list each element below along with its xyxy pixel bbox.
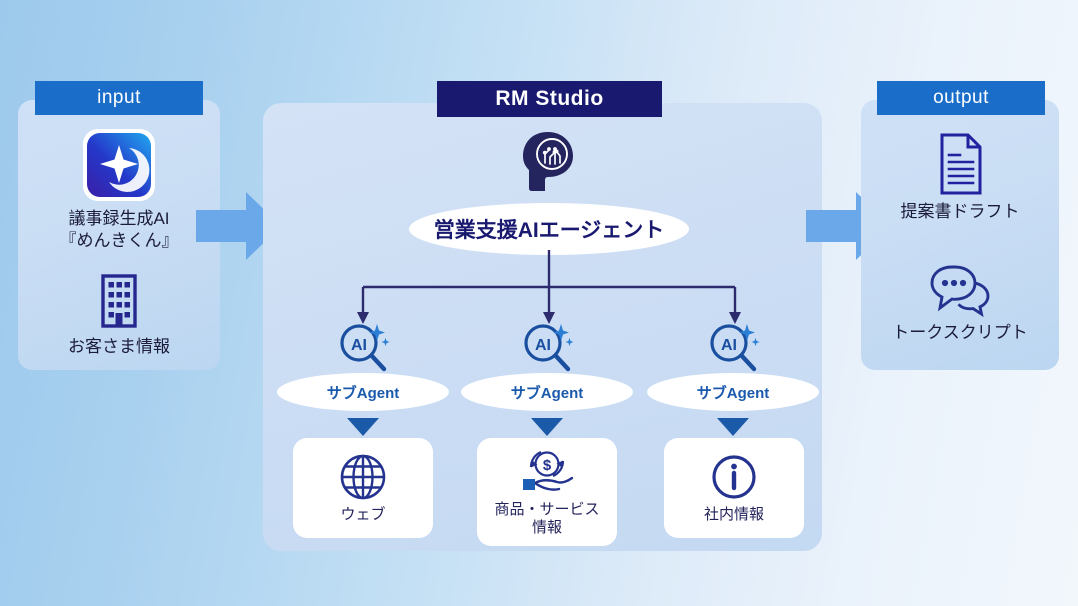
svg-text:AI: AI [351, 337, 367, 354]
rm-studio-header-label: RM Studio [495, 87, 603, 111]
branch-3-agent-label: サブAgent [697, 382, 770, 403]
input-item-meeting-ai-label: 議事録生成AI 『めんきくん』 [60, 208, 179, 252]
branch-1-agent-ellipse: サブAgent [277, 373, 449, 411]
branch-3-source-card: 社内情報 [664, 438, 804, 538]
info-circle-icon [709, 452, 759, 502]
output-item-talk-script-label: トークスクリプト [892, 322, 1028, 344]
rm-studio-header: RM Studio [437, 81, 662, 117]
branch-2-agent-icon: AI [519, 322, 575, 374]
branch-3-agent-ellipse: サブAgent [647, 373, 819, 411]
branch-2-source-card: $ 商品・サービス 情報 [477, 438, 617, 546]
svg-text:$: $ [543, 457, 552, 474]
branch-2-down-arrow [529, 415, 565, 439]
branch-1-down-arrow [345, 415, 381, 439]
input-item-customer-info: お客さま情報 [39, 272, 199, 358]
branch-1-agent-label: サブAgent [327, 382, 400, 403]
hand-money-service-icon: $ [518, 447, 576, 497]
output-item-proposal-draft-label: 提案書ドラフト [901, 201, 1020, 223]
branch-2-agent-ellipse: サブAgent [461, 373, 633, 411]
branch-2-agent-label: サブAgent [511, 382, 584, 403]
svg-text:AI: AI [721, 337, 737, 354]
input-panel-header-label: input [97, 87, 141, 109]
speech-bubbles-icon [929, 264, 991, 316]
input-item-meeting-ai: 議事録生成AI 『めんきくん』 [39, 128, 199, 252]
branch-1-source-card: ウェブ [293, 438, 433, 538]
main-agent-ellipse: 営業支援AIエージェント [409, 203, 689, 255]
branch-3-down-arrow [715, 415, 751, 439]
branch-1-source-label: ウェブ [340, 506, 385, 524]
branch-3-source-label: 社内情報 [704, 506, 764, 524]
office-building-icon [93, 272, 145, 330]
meeting-minutes-app-icon [82, 128, 156, 202]
branch-3-agent-icon: AI [705, 322, 761, 374]
output-item-talk-script: トークスクリプト [880, 264, 1040, 344]
input-panel-header: input [35, 81, 203, 115]
output-panel-header-label: output [933, 87, 989, 109]
agent-branch-connectors [263, 250, 822, 330]
diagram-canvas: input 議事録生成AI 『めんきくん』 [0, 0, 1078, 606]
ai-brain-head-icon [519, 130, 577, 192]
input-item-customer-info-label: お客さま情報 [68, 336, 170, 358]
main-agent-label: 営業支援AIエージェント [434, 214, 665, 244]
svg-text:AI: AI [535, 337, 551, 354]
output-panel-header: output [877, 81, 1045, 115]
document-draft-icon [935, 133, 985, 195]
branch-1-agent-icon: AI [335, 322, 391, 374]
globe-icon [338, 452, 388, 502]
output-item-proposal-draft: 提案書ドラフト [880, 133, 1040, 223]
branch-2-source-label: 商品・サービス 情報 [494, 501, 599, 538]
